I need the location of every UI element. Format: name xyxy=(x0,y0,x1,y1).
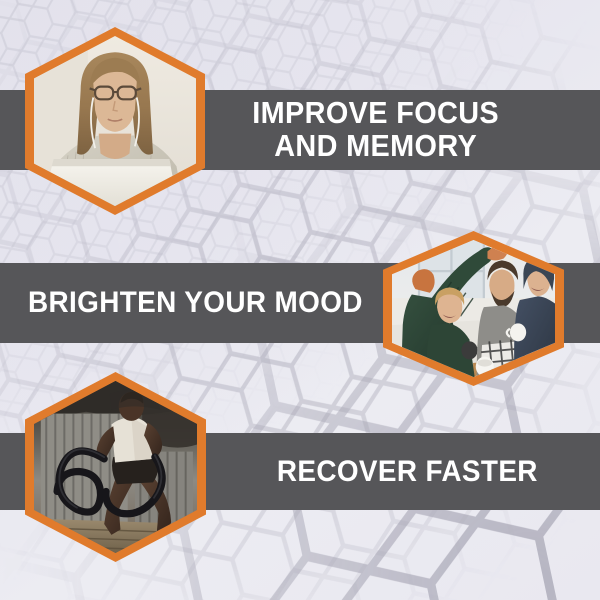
friends-laughing-photo xyxy=(392,240,555,377)
headline-text-focus: IMPROVE FOCUS AND MEMORY xyxy=(252,97,499,162)
hexagon-photo-clip-recover xyxy=(34,381,197,553)
hexagon-photo-clip-focus xyxy=(34,36,196,206)
headline-text-recover: RECOVER FASTER xyxy=(277,456,538,488)
woman-at-laptop-photo xyxy=(34,36,196,206)
hexagon-photo-clip-mood xyxy=(392,240,555,377)
headline-text-mood: BRIGHTEN YOUR MOOD xyxy=(28,287,363,319)
poster-canvas: IMPROVE FOCUS AND MEMORY BRIGHTEN YOUR M… xyxy=(0,0,600,600)
battle-ropes-athlete-photo xyxy=(34,381,197,553)
